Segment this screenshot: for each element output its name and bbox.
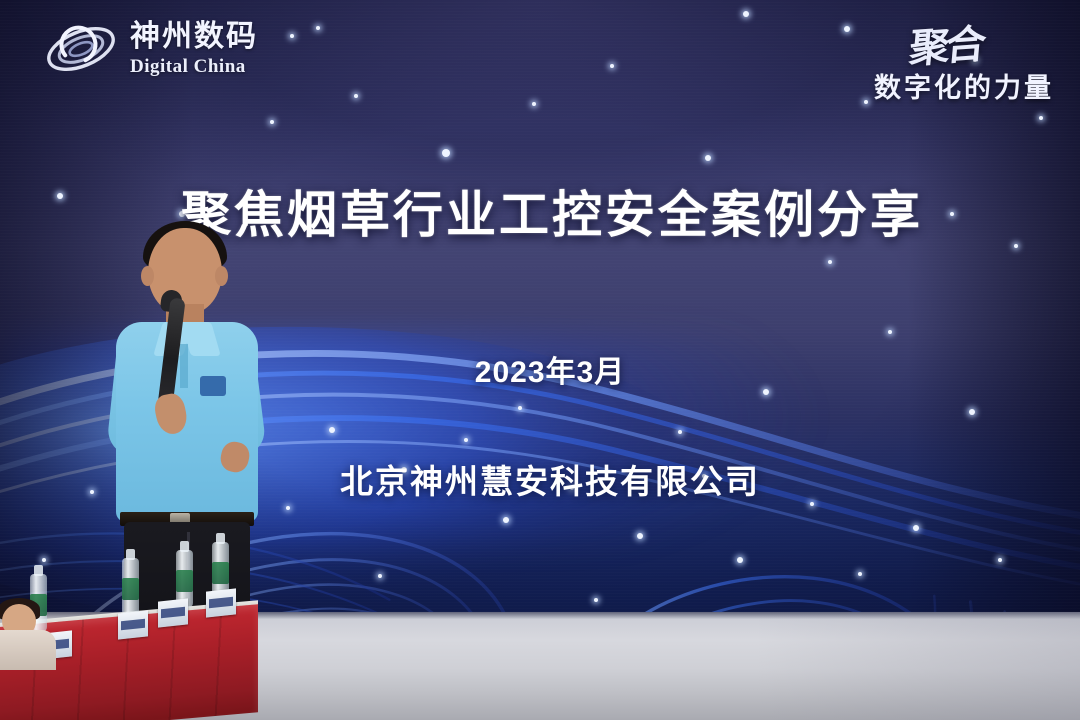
slogan-calligraphy: 聚合 [907, 12, 985, 75]
particle-dot [594, 598, 598, 602]
presenter-ear-right [215, 266, 228, 286]
particle-dot [888, 330, 892, 334]
particle-dot [518, 406, 522, 410]
presenter-head [148, 228, 222, 314]
delegate-name-card [158, 598, 188, 627]
particle-dot [610, 64, 614, 68]
particle-dot [678, 430, 682, 434]
particle-dot [969, 409, 975, 415]
particle-dot [354, 94, 358, 98]
particle-dot [743, 11, 749, 17]
presenter-shirt-placket [180, 344, 188, 388]
conference-photo: 神州数码 Digital China 聚合 数字化的力量 聚焦烟草行业工控安全案… [0, 0, 1080, 720]
attendee-body [0, 630, 56, 670]
particle-dot [442, 149, 450, 157]
delegate-name-card [206, 588, 236, 617]
water-bottle [122, 558, 139, 616]
particle-dot [532, 102, 536, 106]
brand-name-en: Digital China [130, 57, 258, 76]
slogan-subtitle: 数字化的力量 [874, 66, 1054, 105]
particle-dot [864, 100, 868, 104]
particle-dot [828, 260, 832, 264]
digital-china-spiral-logo [44, 18, 118, 80]
particle-dot [503, 517, 509, 523]
particle-dot [705, 155, 711, 161]
particle-dot [42, 558, 46, 562]
seated-attendee [0, 604, 58, 664]
particle-dot [316, 26, 320, 30]
event-slogan: 聚合 数字化的力量 [874, 14, 1054, 105]
particle-dot [329, 427, 335, 433]
brand-logo: 神州数码 Digital China [44, 18, 258, 80]
particle-dot [858, 572, 862, 576]
particle-dot [378, 574, 382, 578]
particle-dot [286, 506, 290, 510]
particle-dot [844, 26, 850, 32]
brand-name-cn: 神州数码 [130, 22, 258, 52]
particle-dot [464, 438, 468, 442]
particle-dot [290, 34, 294, 38]
delegate-name-card [118, 610, 148, 639]
presenter-ear-left [141, 266, 154, 286]
particle-dot [1039, 116, 1043, 120]
particle-dot [270, 120, 274, 124]
particle-dot [637, 533, 643, 539]
chest-logo-icon [200, 376, 226, 396]
particle-dot [737, 557, 743, 563]
particle-dot [913, 525, 919, 531]
particle-dot [998, 558, 1002, 562]
